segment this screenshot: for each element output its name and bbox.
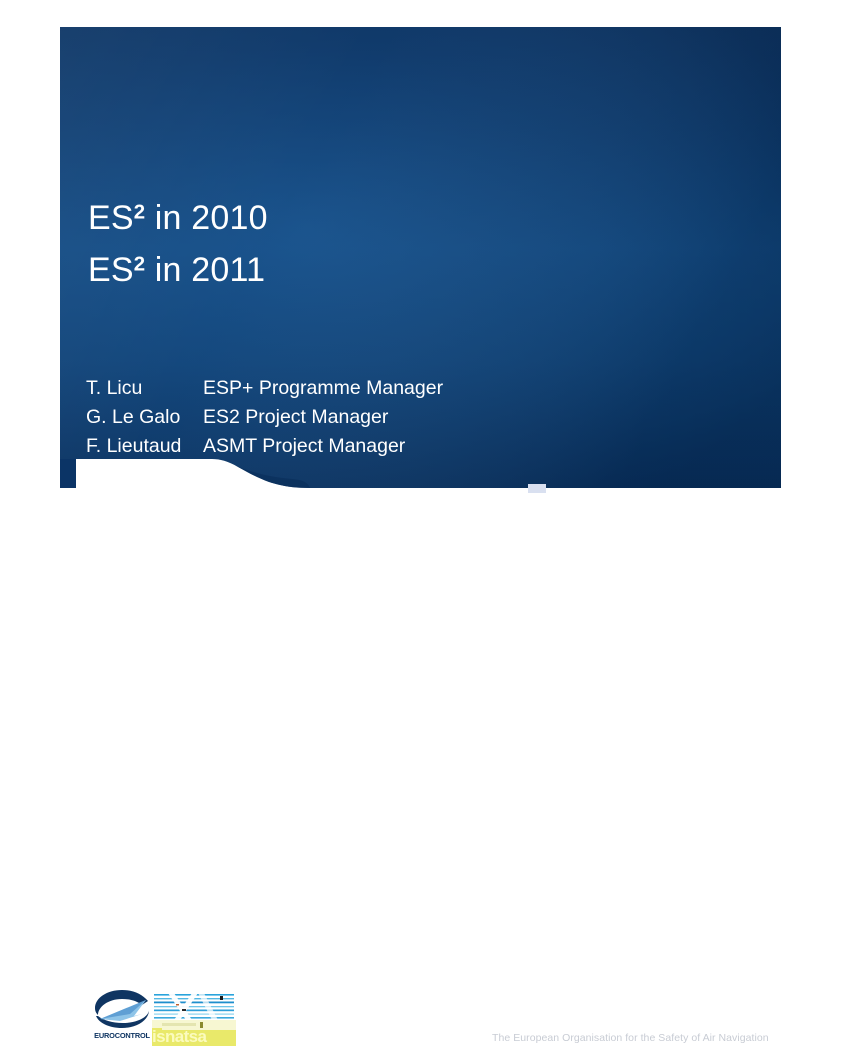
page-title: ES2 in 2010 ES2 in 2011 <box>88 192 728 296</box>
eurocontrol-wordmark: EUROCONTROL <box>86 1031 158 1040</box>
footer-tagline: The European Organisation for the Safety… <box>492 1032 769 1044</box>
title-line-2-suffix: in 2011 <box>145 251 265 289</box>
title-line-1-suffix: in 2010 <box>145 199 268 237</box>
title-line-2-superscript: 2 <box>134 253 145 275</box>
title-line-2: ES2 in 2011 <box>88 244 728 296</box>
title-line-2-prefix: ES <box>88 251 134 289</box>
author-row: T. Licu ESP+ Programme Manager <box>86 374 726 403</box>
partner-logo: isnatsa <box>152 992 236 1046</box>
author-name: F. Lieutaud <box>86 432 203 461</box>
slide-footer: EUROCONTROL <box>0 488 842 595</box>
title-line-1: ES2 in 2010 <box>88 192 728 244</box>
partner-wordmark: isnatsa <box>152 1028 236 1045</box>
author-role: ASMT Project Manager <box>203 432 726 461</box>
slide-canvas: ES2 in 2010 ES2 in 2011 T. Licu ESP+ Pro… <box>0 0 842 595</box>
author-role: ES2 Project Manager <box>203 403 726 432</box>
author-role: ESP+ Programme Manager <box>203 374 726 403</box>
eurocontrol-logo: EUROCONTROL <box>86 988 158 1046</box>
title-line-1-prefix: ES <box>88 199 134 237</box>
author-name: G. Le Galo <box>86 403 203 432</box>
title-line-1-superscript: 2 <box>134 201 145 223</box>
author-name: T. Licu <box>86 374 203 403</box>
author-row: F. Lieutaud ASMT Project Manager <box>86 432 726 461</box>
author-row: G. Le Galo ES2 Project Manager <box>86 403 726 432</box>
eurocontrol-swoosh-icon <box>90 988 154 1030</box>
author-list: T. Licu ESP+ Programme Manager G. Le Gal… <box>86 374 726 461</box>
